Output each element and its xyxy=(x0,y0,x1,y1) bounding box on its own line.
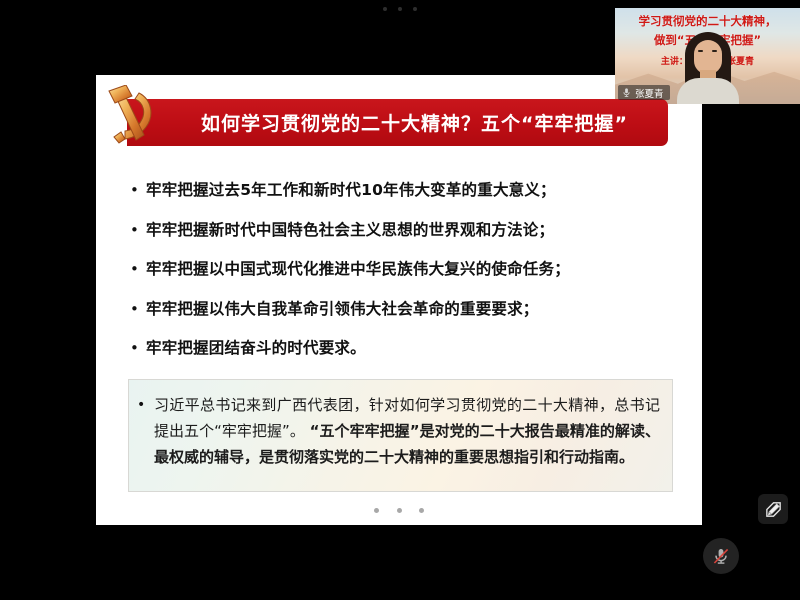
participant-name-badge: 张夏青 xyxy=(618,85,670,100)
presenter-avatar xyxy=(671,32,745,104)
presenter-body xyxy=(677,78,739,104)
list-item-text: 牢牢把握以伟大自我革命引领伟大社会革命的重要要求； xyxy=(146,299,539,320)
list-item: • 牢牢把握团结奋斗的时代要求。 xyxy=(130,338,675,359)
more-options-dot xyxy=(398,7,402,11)
slide-pagination[interactable] xyxy=(96,508,702,513)
participant-name: 张夏青 xyxy=(635,86,664,100)
list-item-text: 牢牢把握新时代中国特色社会主义思想的世界观和方法论； xyxy=(146,220,554,241)
callout-paragraph: 习近平总书记来到广西代表团，针对如何学习贯彻党的二十大精神，总书记提出五个“牢牢… xyxy=(154,392,660,470)
annotate-button[interactable] xyxy=(758,494,788,524)
bullet-marker-icon: • xyxy=(130,220,146,241)
more-options-dot xyxy=(383,7,387,11)
slide-callout-box: • 习近平总书记来到广西代表团，针对如何学习贯彻党的二十大精神，总书记提出五个“… xyxy=(128,379,673,492)
slide-title-banner: 如何学习贯彻党的二十大精神？五个“牢牢把握” xyxy=(127,99,668,146)
bullet-marker-icon: • xyxy=(130,180,146,201)
shared-slide[interactable]: 如何学习贯彻党的二十大精神？五个“牢牢把握” • 牢牢把握过去5年工作和新时代1… xyxy=(96,75,702,525)
presenter-video-tile[interactable]: 学习贯彻党的二十大精神， 做到“五个牢牢把握” 主讲：支部书记 张夏青 张夏青 xyxy=(615,8,800,104)
slide-title: 如何学习贯彻党的二十大精神？五个“牢牢把握” xyxy=(167,109,628,136)
slide-pagination-dot[interactable] xyxy=(419,508,424,513)
list-item: • 牢牢把握过去5年工作和新时代10年伟大变革的重大意义； xyxy=(130,180,675,201)
bullet-marker-icon: • xyxy=(130,259,146,280)
list-item-text: 牢牢把握以中国式现代化推进中华民族伟大复兴的使命任务； xyxy=(146,259,570,280)
list-item-text: 牢牢把握团结奋斗的时代要求。 xyxy=(146,338,366,359)
party-emblem-icon xyxy=(99,85,161,151)
presenter-face xyxy=(694,40,722,74)
meeting-screen-share-view: 如何学习贯彻党的二十大精神？五个“牢牢把握” • 牢牢把握过去5年工作和新时代1… xyxy=(0,0,800,600)
more-options-dot xyxy=(413,7,417,11)
slide-bullet-list: • 牢牢把握过去5年工作和新时代10年伟大变革的重大意义； • 牢牢把握新时代中… xyxy=(130,180,675,378)
presenter-eye-left xyxy=(698,50,703,52)
bullet-marker-icon: • xyxy=(137,392,154,470)
video-headline-line1: 学习贯彻党的二十大精神， xyxy=(615,12,800,31)
bullet-marker-icon: • xyxy=(130,338,146,359)
bullet-marker-icon: • xyxy=(130,299,146,320)
slide-pagination-dot[interactable] xyxy=(397,508,402,513)
microphone-muted-icon xyxy=(711,546,731,566)
list-item: • 牢牢把握以中国式现代化推进中华民族伟大复兴的使命任务； xyxy=(130,259,675,280)
slide-pagination-dot[interactable] xyxy=(374,508,379,513)
list-item: • 牢牢把握以伟大自我革命引领伟大社会革命的重要要求； xyxy=(130,299,675,320)
mute-toggle-button[interactable] xyxy=(703,538,739,574)
microphone-icon xyxy=(621,87,632,98)
list-item: • 牢牢把握新时代中国特色社会主义思想的世界观和方法论； xyxy=(130,220,675,241)
pen-annotate-icon xyxy=(764,500,783,519)
list-item-text: 牢牢把握过去5年工作和新时代10年伟大变革的重大意义； xyxy=(146,180,556,201)
presenter-eye-right xyxy=(712,50,717,52)
